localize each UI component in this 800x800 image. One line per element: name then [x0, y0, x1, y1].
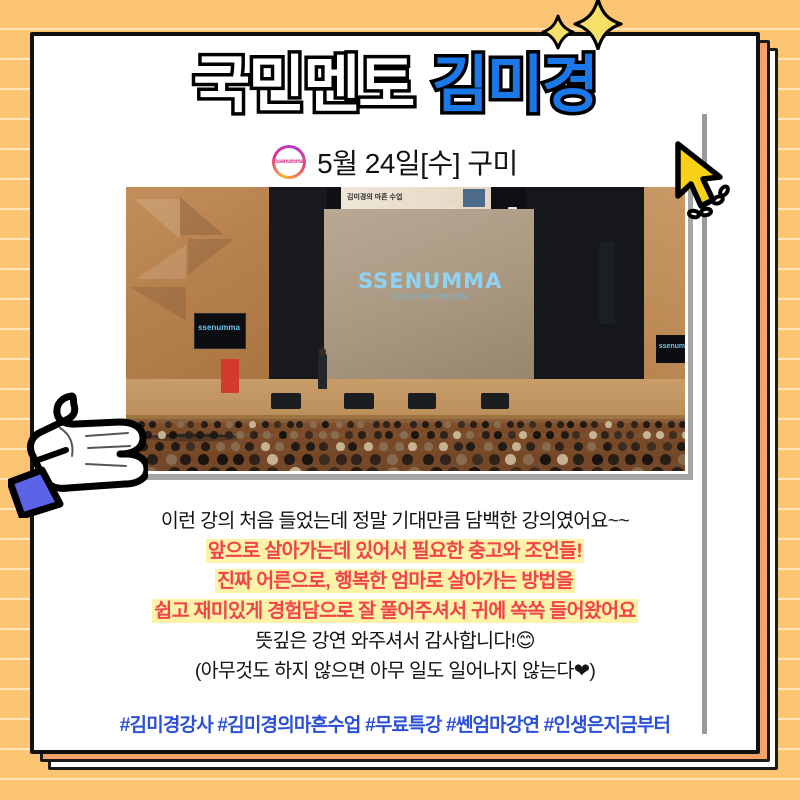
- photo-audience-head: [660, 454, 671, 465]
- photo-audience-head: [494, 421, 501, 428]
- photo-wall-facet: [136, 245, 186, 279]
- photo-audience-head: [498, 442, 507, 451]
- photo-audience-head: [542, 442, 551, 451]
- photo-audience-head: [587, 442, 596, 451]
- photo-audience-head: [198, 454, 209, 465]
- photo-banner-text: 김미경의 마흔 수업: [347, 192, 402, 202]
- photo-audience-head: [642, 454, 653, 465]
- photo-audience-head: [379, 442, 388, 451]
- photo-audience-head: [571, 467, 584, 471]
- photo-audience-head: [165, 421, 172, 428]
- photo-stage-monitor: [408, 393, 436, 409]
- photo-stage-monitor: [481, 393, 509, 409]
- photo-audience-head: [679, 421, 685, 428]
- thumbs-up-hand-icon: [8, 378, 148, 518]
- photo-audience-head: [647, 442, 656, 451]
- photo-audience-head: [663, 442, 672, 451]
- photo-audience-head: [422, 421, 429, 428]
- photo-screen-logo: SSENUMMA: [358, 269, 498, 293]
- photo-audience-head: [287, 421, 294, 428]
- photo-audience-head: [319, 431, 327, 439]
- photo-wall-facet: [180, 197, 224, 235]
- photo-audience-head: [336, 421, 343, 428]
- photo-audience-head: [427, 431, 435, 439]
- photo-audience-head: [454, 442, 463, 451]
- photo-audience-head: [158, 431, 166, 439]
- photo-audience-head: [385, 431, 393, 439]
- photo-audience-head: [245, 442, 254, 451]
- photo-audience-head: [210, 431, 218, 439]
- title-part-name: 김미경: [432, 54, 597, 116]
- photo-audience-head: [410, 421, 417, 428]
- photo-audience-head: [310, 421, 317, 428]
- photo-screen-logo-sub: 멈추지않는 엄마의 선택, 쎈엄마: [358, 292, 498, 301]
- sparkle-star-icon: [573, 0, 623, 50]
- photo-audience-head: [306, 442, 315, 451]
- photo-audience-head: [214, 421, 221, 428]
- lecture-photo: 김미경의 마흔 수업 SSENUMMA 멈추지않는 엄마의 선택, 쎈엄마 ss…: [126, 187, 685, 471]
- photo-audience-head: [302, 454, 313, 465]
- photo-audience-head: [423, 454, 434, 465]
- photo-audience-head: [411, 431, 419, 439]
- testimonial-line-2: 앞으로 살아가는데 있어서 필요한 충고와 조언들!: [34, 536, 756, 566]
- photo-audience-head: [347, 421, 354, 428]
- photo-audience-head: [631, 421, 638, 428]
- photo-audience-head: [472, 454, 483, 465]
- photo-audience-head: [336, 454, 347, 465]
- testimonial-line-3: 진짜 어른으로, 행복한 엄마로 살아가는 방법을: [34, 566, 756, 596]
- title-part-mentor: 국민멘토: [193, 54, 413, 116]
- photo-audience-head: [166, 454, 177, 465]
- photo-audience-head: [187, 421, 194, 428]
- photo-banner-portrait: [463, 189, 485, 207]
- photo-audience-head: [400, 431, 408, 439]
- testimonial-line-text: 뜻깊은 강연 와주셔서 감사합니다!😊: [255, 630, 535, 652]
- photo-audience-head: [557, 454, 568, 465]
- photo-audience-head: [605, 421, 612, 428]
- photo-audience-head: [580, 421, 587, 428]
- photo-audience-head: [274, 421, 281, 428]
- photo-audience-head: [668, 421, 675, 428]
- photo-audience-head: [601, 431, 609, 439]
- brand-logo-label: ssenumma: [275, 148, 303, 176]
- photo-audience-head: [235, 421, 242, 428]
- photo-audience-head: [171, 442, 180, 451]
- photo-audience-head: [186, 442, 195, 451]
- photo-audience-head: [147, 454, 158, 465]
- photo-wall-facet: [188, 239, 234, 275]
- photo-lecturer-head: [319, 348, 326, 355]
- photo-audience-head: [177, 421, 184, 428]
- photo-audience-head: [424, 442, 433, 451]
- photo-audience-head: [322, 421, 329, 428]
- photo-audience-head: [655, 421, 662, 428]
- photo-audience-head: [336, 442, 345, 451]
- photo-audience-head: [374, 431, 382, 439]
- photo-audience-head: [387, 454, 398, 465]
- testimonial-line-text: 진짜 어른으로, 행복한 엄마로 살아가는 방법을: [215, 569, 575, 593]
- photo-audience-head: [348, 442, 357, 451]
- photo-audience-head: [319, 454, 330, 465]
- photo-audience-head: [574, 442, 583, 451]
- testimonial-block: 이런 강의 처음 들었는데 정말 기대만큼 담백한 강의였어요~~ 앞으로 살아…: [34, 506, 756, 686]
- photo-audience-head: [656, 431, 664, 439]
- photo-audience-head: [439, 442, 448, 451]
- photo-audience-head: [440, 431, 448, 439]
- photo-audience-head: [589, 431, 597, 439]
- photo-audience-head: [201, 421, 208, 428]
- photo-audience-head: [358, 431, 366, 439]
- photo-audience-head: [216, 442, 225, 451]
- photo-audience-head: [507, 421, 514, 428]
- photo-audience-head: [484, 442, 493, 451]
- photo-curtain-right: [526, 187, 644, 402]
- photo-audience-head: [561, 431, 569, 439]
- photo-audience-head: [592, 454, 603, 465]
- photo-tv-right-label: ssenumma: [656, 343, 685, 350]
- photo-audience-head: [149, 421, 156, 428]
- photo-audience-head: [250, 431, 258, 439]
- photo-audience-head: [262, 421, 269, 428]
- photo-audience-head: [249, 454, 260, 465]
- photo-audience-head: [526, 442, 535, 451]
- photo-audience-head: [603, 442, 612, 451]
- photo-audience-head: [549, 467, 562, 471]
- photo-audience-head: [267, 454, 278, 465]
- photo-audience-head: [677, 442, 685, 451]
- photo-audience-head: [618, 442, 627, 451]
- photo-audience-head: [319, 442, 328, 451]
- photo-audience-head: [573, 454, 584, 465]
- hashtag-row[interactable]: #김미경강사 #김미경의마흔수업 #무료특강 #쎈엄마강연 #인생은지금부터: [34, 710, 756, 737]
- photo-wall-facet: [130, 287, 186, 321]
- photo-wall-facet: [134, 199, 180, 239]
- photo-audience-head: [364, 442, 373, 451]
- photo-audience-head: [201, 442, 210, 451]
- photo-stage-monitor: [271, 393, 301, 409]
- event-date-location: 5월 24일[수] 구미: [317, 142, 518, 182]
- testimonial-line-5: 뜻깊은 강연 와주셔서 감사합니다!😊: [34, 626, 756, 656]
- photo-audience-head: [466, 431, 474, 439]
- page-title: 국민멘토 김미경: [34, 54, 756, 116]
- photo-stage-monitor: [344, 393, 374, 409]
- testimonial-line-text: 쉽고 재미있게 경험담으로 잘 풀어주셔서 귀에 쏙쏙 들어왔어요: [152, 599, 637, 623]
- photo-audience-head: [505, 454, 516, 465]
- photo-audience-head: [236, 431, 244, 439]
- photo-line-array-speaker: [599, 242, 615, 324]
- photo-audience-head: [186, 467, 199, 471]
- testimonial-line-4: 쉽고 재미있게 경험담으로 잘 풀어주셔서 귀에 쏙쏙 들어왔어요: [34, 596, 756, 626]
- subtitle-row: ssenumma 5월 24일[수] 구미: [34, 142, 756, 182]
- photo-audience-head: [226, 421, 233, 428]
- photo-audience-head: [373, 421, 380, 428]
- photo-audience-head: [233, 454, 244, 465]
- sparkle-star-icon: [541, 14, 575, 50]
- photo-audience-head: [517, 421, 524, 428]
- photo-audience-head: [617, 421, 624, 428]
- photo-audience-head: [482, 421, 489, 428]
- photo-audience-head: [572, 431, 580, 439]
- photo-audience-head: [279, 431, 287, 439]
- photo-audience-head: [456, 454, 467, 465]
- testimonial-line-text: 앞으로 살아가는데 있어서 필요한 충고와 조언들!: [206, 539, 584, 563]
- photo-audience-head: [249, 421, 256, 428]
- photo-audience-head: [512, 442, 521, 451]
- photo-audience-head: [351, 454, 362, 465]
- photo-audience-head: [626, 431, 634, 439]
- photo-audience-head: [533, 431, 541, 439]
- photo-red-podium: [221, 359, 239, 393]
- photo-audience-head: [494, 431, 502, 439]
- photo-audience-head: [669, 431, 677, 439]
- photo-audience-head: [305, 431, 313, 439]
- photo-audience-head: [523, 454, 534, 465]
- photo-audience-head: [231, 442, 240, 451]
- testimonial-line-text: 이런 강의 처음 들었는데 정말 기대만큼 담백한 강의였어요~~: [161, 510, 629, 532]
- photo-audience-head: [678, 454, 685, 465]
- photo-audience-head: [263, 431, 271, 439]
- photo-audience-head: [631, 442, 640, 451]
- photo-audience-head: [453, 431, 461, 439]
- yellow-cursor-arrow-icon[interactable]: [672, 140, 734, 220]
- photo-audience-head: [458, 421, 465, 428]
- photo-audience-head: [519, 431, 527, 439]
- photo-audience-head: [155, 442, 164, 451]
- photo-audience-head: [370, 454, 381, 465]
- photo-audience-head: [643, 431, 651, 439]
- photo-audience-head: [682, 431, 685, 439]
- testimonial-line-6: (아무것도 하지 않으면 아무 일도 일어나지 않는다❤): [34, 656, 756, 686]
- lecture-photo-frame: 김미경의 마흔 수업 SSENUMMA 멈추지않는 엄마의 선택, 쎈엄마 ss…: [123, 184, 688, 474]
- photo-audience-head: [217, 454, 228, 465]
- photo-audience-head: [435, 421, 442, 428]
- photo-audience-head: [402, 454, 413, 465]
- photo-tv-left-label: ssenumma: [194, 323, 244, 332]
- photo-audience-head: [625, 454, 636, 465]
- brand-logo-icon: ssenumma: [272, 145, 306, 179]
- photo-stage-banner: 김미경의 마흔 수업: [341, 187, 491, 209]
- photo-audience-head: [557, 421, 564, 428]
- photo-audience-head: [169, 431, 177, 439]
- photo-audience-head: [508, 431, 516, 439]
- photo-audience-head: [546, 431, 554, 439]
- photo-audience-head: [284, 454, 295, 465]
- photo-audience-head: [440, 454, 451, 465]
- photo-audience-head: [180, 454, 191, 465]
- photo-audience-head: [540, 454, 551, 465]
- photo-audience-head: [331, 431, 339, 439]
- testimonial-line-text: (아무것도 하지 않으면 아무 일도 일어나지 않는다❤): [195, 660, 595, 682]
- photo-audience-head: [608, 454, 619, 465]
- photo-lecturer: [318, 353, 327, 389]
- photo-audience-head: [482, 431, 490, 439]
- photo-audience-head: [185, 431, 193, 439]
- photo-audience-head: [489, 454, 500, 465]
